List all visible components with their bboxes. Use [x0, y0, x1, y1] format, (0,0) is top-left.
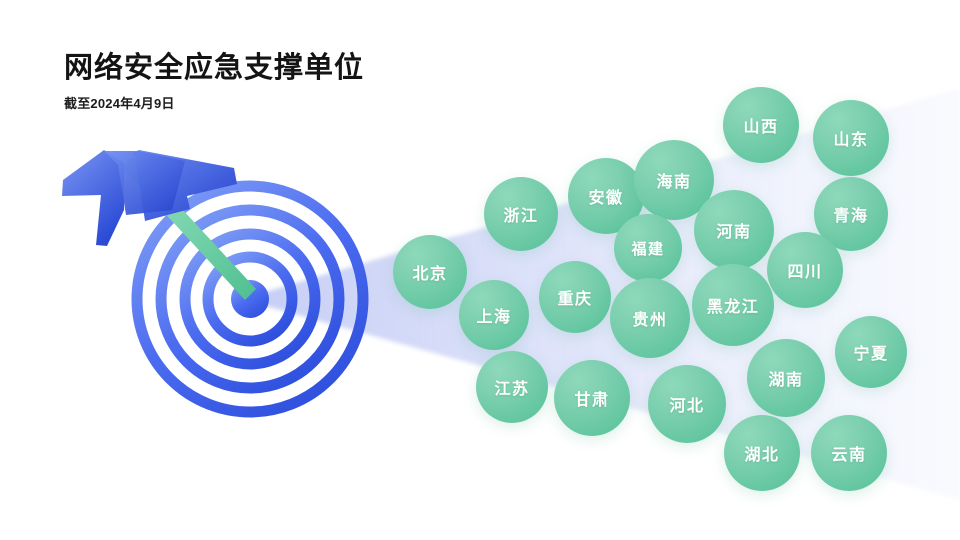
- province-bubble[interactable]: 黑龙江: [692, 264, 774, 346]
- page-title: 网络安全应急支撑单位: [64, 52, 484, 85]
- province-bubble-label: 贵州: [632, 306, 667, 330]
- province-bubble[interactable]: 河南: [694, 190, 774, 270]
- infographic-canvas: 网络安全应急支撑单位 截至2024年4月9日 北京浙江安徽海南山西山东福建河南青…: [0, 0, 960, 540]
- province-bubble[interactable]: 浙江: [484, 177, 558, 251]
- province-bubble-label: 湖北: [744, 441, 779, 465]
- province-bubble[interactable]: 福建: [614, 214, 682, 282]
- province-bubble-label: 黑龙江: [707, 293, 760, 317]
- province-bubble-label: 河南: [716, 218, 751, 242]
- province-bubble[interactable]: 湖北: [724, 415, 800, 491]
- page-subtitle: 截至2024年4月9日: [64, 93, 484, 112]
- province-bubble-label: 云南: [831, 441, 866, 465]
- province-bubble-label: 四川: [787, 258, 822, 282]
- province-bubble[interactable]: 云南: [811, 415, 887, 491]
- province-bubble[interactable]: 重庆: [539, 261, 611, 333]
- province-bubble-label: 重庆: [557, 285, 592, 309]
- header-block: 网络安全应急支撑单位 截至2024年4月9日: [64, 52, 484, 112]
- province-bubble[interactable]: 山西: [723, 87, 799, 163]
- province-bubble[interactable]: 甘肃: [554, 360, 630, 436]
- province-bubble[interactable]: 湖南: [747, 339, 825, 417]
- province-bubble[interactable]: 河北: [648, 365, 726, 443]
- province-bubble-label: 山东: [833, 126, 868, 150]
- province-bubble-label: 海南: [656, 168, 691, 192]
- province-bubble-label: 福建: [631, 238, 664, 259]
- province-bubble-label: 青海: [833, 202, 868, 226]
- province-bubble[interactable]: 贵州: [610, 278, 690, 358]
- province-bubble[interactable]: 上海: [459, 280, 529, 350]
- province-bubble[interactable]: 宁夏: [835, 316, 907, 388]
- province-bubble-label: 山西: [743, 113, 778, 137]
- province-bubble-label: 河北: [669, 392, 704, 416]
- province-bubble-label: 甘肃: [574, 386, 609, 410]
- province-bubble[interactable]: 山东: [813, 100, 889, 176]
- province-bubble[interactable]: 四川: [767, 232, 843, 308]
- province-bubble-label: 江苏: [494, 375, 529, 399]
- province-bubble[interactable]: 北京: [393, 235, 467, 309]
- province-bubble-label: 浙江: [503, 202, 538, 226]
- province-bubble-label: 北京: [412, 260, 447, 284]
- province-bubble-label: 上海: [476, 303, 511, 327]
- province-bubble-label: 宁夏: [853, 340, 888, 364]
- province-bubble[interactable]: 江苏: [476, 351, 548, 423]
- province-bubble-label: 安徽: [588, 184, 623, 208]
- province-bubble-label: 湖南: [768, 366, 803, 390]
